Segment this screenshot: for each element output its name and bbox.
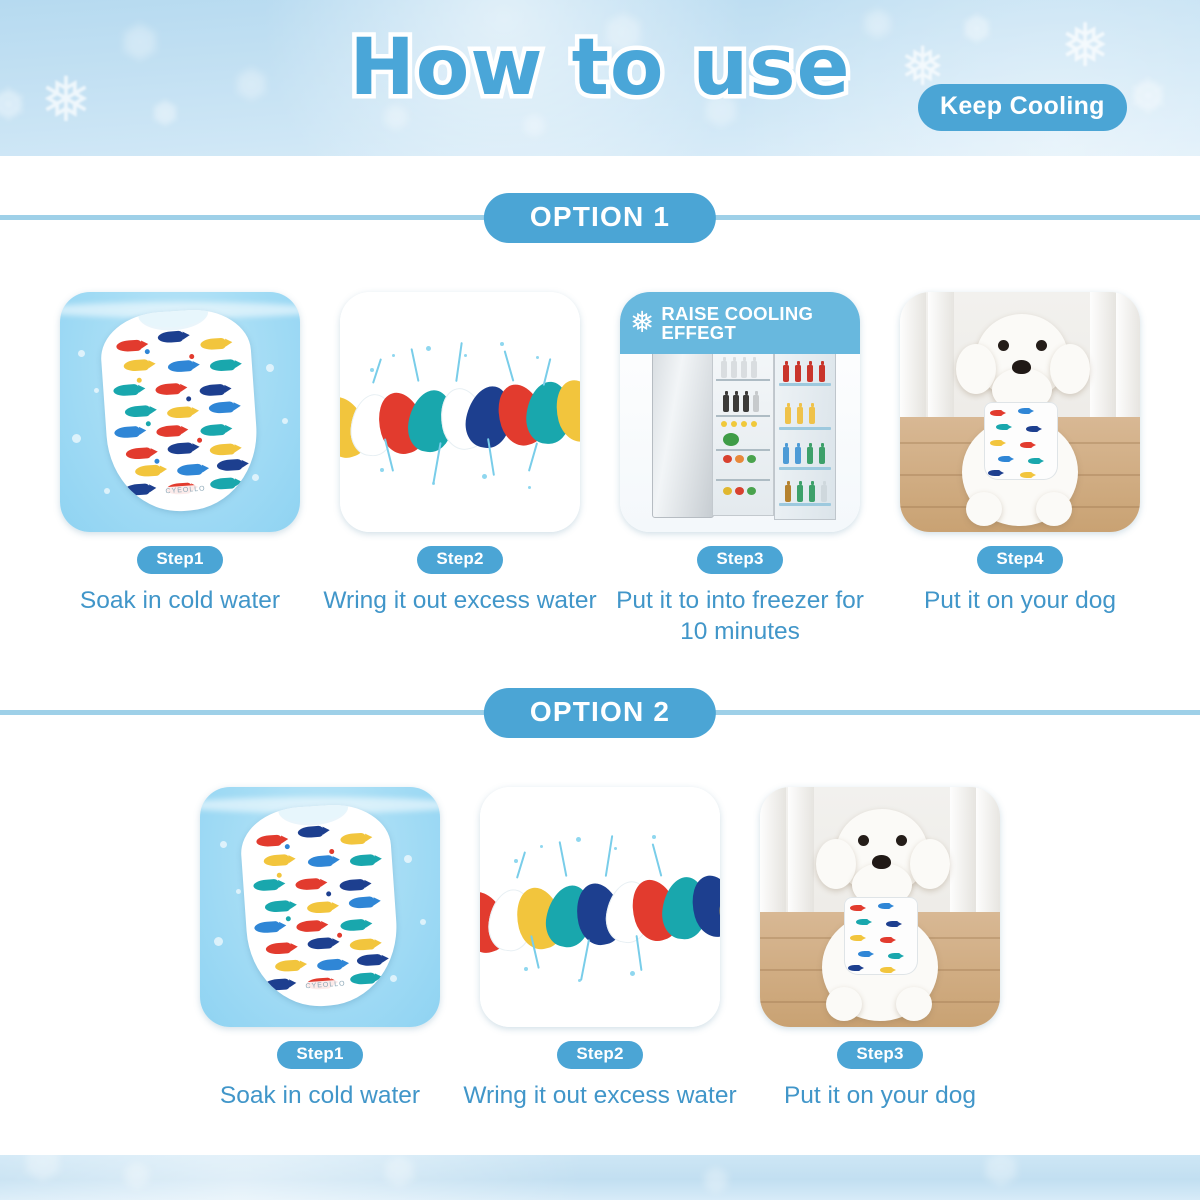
fridge-left-door (652, 344, 714, 518)
snowflake-icon: ❅ (232, 62, 271, 108)
dog-ear (956, 344, 996, 394)
step-caption: Soak in cold water (43, 585, 318, 616)
fridge-interior (712, 344, 774, 516)
dog-eye (1036, 340, 1047, 351)
snowflake-icon: ❅ (120, 1157, 154, 1197)
snowflake-icon: ❅ (520, 110, 549, 144)
dog-photo (900, 292, 1140, 532)
water-background: CYEOLLO (200, 787, 440, 1027)
step-badge: Step2 (557, 1041, 642, 1069)
brand-tag: CYEOLLO (161, 484, 210, 496)
step-image-wrung-shirt (480, 787, 720, 1027)
freezer-background: ❅ RAISE COOLING EFFEGT (620, 292, 860, 532)
dog-nose (872, 855, 891, 869)
twisted-fabric (340, 378, 580, 461)
dog-nose (1012, 360, 1031, 374)
water-background: CYEOLLO (60, 292, 300, 532)
dog-ear (816, 839, 856, 889)
dog-shirt-product: CYEOLLO (238, 801, 402, 1011)
dog-paw (826, 987, 862, 1021)
step-caption: Wring it out excess water (463, 1080, 738, 1111)
snowflake-icon: ❅ (980, 1155, 1022, 1195)
option-1-divider: OPTION 1 (0, 193, 1200, 241)
snowflake-icon: ❅ (118, 18, 162, 70)
option-2-label: OPTION 2 (484, 688, 716, 738)
snowflake-icon: ❅ (20, 1155, 65, 1191)
raise-cooling-effect-banner: ❅ RAISE COOLING EFFEGT (620, 292, 860, 354)
snowflake-icon: ❅ (1060, 16, 1110, 76)
snowflake-icon: ❅ (380, 1155, 419, 1195)
dog-eye (858, 835, 869, 846)
step-badge: Step3 (837, 1041, 922, 1069)
keep-cooling-badge: Keep Cooling (918, 84, 1127, 131)
step-image-shirt-in-water: CYEOLLO (200, 787, 440, 1027)
step-card: Step3 Put it on your dog (740, 787, 1020, 1111)
dog-paw (896, 987, 932, 1021)
twisted-fabric (480, 873, 720, 956)
step-badge: Step4 (977, 546, 1062, 574)
snowflake-icon: ❅ (0, 84, 27, 128)
dog-ear (1050, 344, 1090, 394)
step-card: CYEOLLO Step1 Soak in cold water (180, 787, 460, 1111)
dog-eye (896, 835, 907, 846)
snowflake-icon: ❅ (700, 1163, 732, 1200)
snowflake-icon: ❅ (150, 96, 180, 132)
snowflake-icon: ❅ (1128, 74, 1168, 122)
step-card: Step2 Wring it out excess water (320, 292, 600, 648)
step-caption: Put it to into freezer for 10 minutes (603, 585, 878, 648)
snowflake-icon: ❅ (700, 86, 742, 136)
snowflake-icon: ❅ (600, 6, 647, 62)
dog-paw (1036, 492, 1072, 526)
step-image-refrigerator: ❅ RAISE COOLING EFFEGT (620, 292, 860, 532)
step-caption: Soak in cold water (183, 1080, 458, 1111)
step-card: Step4 Put it on your dog (880, 292, 1160, 648)
step-image-wrung-shirt (340, 292, 580, 532)
snowflake-icon: ❅ (630, 309, 654, 338)
snowflake-icon: ❅ (40, 70, 92, 132)
header-banner: ❅ ❅ ❅ ❅ ❅ ❅ ❅ ❅ ❅ ❅ ❅ ❅ ❅ ❅ (0, 0, 1200, 156)
snowflake-icon: ❅ (960, 10, 994, 50)
step-image-dog-wearing-shirt (900, 292, 1140, 532)
wring-background (480, 787, 720, 1027)
dog-photo (760, 787, 1000, 1027)
step-badge: Step2 (417, 546, 502, 574)
dog-paw (966, 492, 1002, 526)
step-badge: Step1 (137, 546, 222, 574)
snowflake-icon: ❅ (860, 4, 895, 46)
dog-eye (998, 340, 1009, 351)
snowflake-icon: ❅ (380, 100, 412, 138)
option-1-steps: CYEOLLO Step1 Soak in cold water (0, 292, 1200, 648)
brand-tag: CYEOLLO (301, 979, 350, 991)
fridge-right-door (774, 340, 836, 520)
option-2-steps: CYEOLLO Step1 Soak in cold water (0, 787, 1200, 1111)
option-2-divider: OPTION 2 (0, 688, 1200, 736)
banner-text: RAISE COOLING EFFEGT (661, 304, 860, 343)
step-caption: Put it on your dog (883, 585, 1158, 616)
step-image-shirt-in-water: CYEOLLO (60, 292, 300, 532)
step-caption: Put it on your dog (743, 1080, 1018, 1111)
step-card: ❅ RAISE COOLING EFFEGT (600, 292, 880, 648)
step-card: CYEOLLO Step1 Soak in cold water (40, 292, 320, 648)
footer-banner: ❅ ❅ ❅ ❅ ❅ (0, 1155, 1200, 1200)
option-1-label: OPTION 1 (484, 193, 716, 243)
step-caption: Wring it out excess water (323, 585, 598, 616)
dog-shirt-worn (984, 402, 1058, 480)
wring-background (340, 292, 580, 532)
step-badge: Step3 (697, 546, 782, 574)
dog-shirt-worn (844, 897, 918, 975)
step-card: Step2 Wring it out excess water (460, 787, 740, 1111)
step-image-dog-wearing-shirt (760, 787, 1000, 1027)
dog-ear (910, 839, 950, 889)
dog-shirt-product: CYEOLLO (98, 306, 262, 516)
step-badge: Step1 (277, 1041, 362, 1069)
